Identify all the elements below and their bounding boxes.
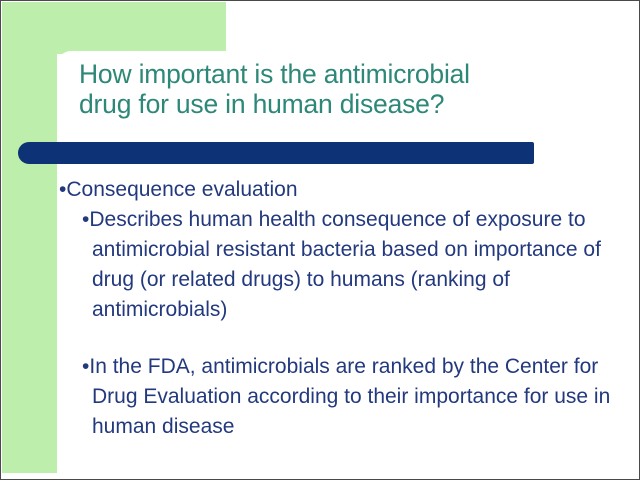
bullet-spacer <box>57 325 637 352</box>
green-left-column <box>2 2 57 473</box>
navy-divider-bar <box>18 142 534 164</box>
presentation-slide: How important is the antimicrobial drug … <box>0 0 640 480</box>
slide-title: How important is the antimicrobial drug … <box>79 59 619 119</box>
bullet-level2-fda-ranking: •In the FDA, antimicrobials are ranked b… <box>57 352 637 442</box>
slide-body: •Consequence evaluation •Describes human… <box>57 177 637 442</box>
green-top-block <box>2 2 226 54</box>
bullet-level2-describes-consequence: •Describes human health consequence of e… <box>57 205 637 325</box>
bullet-text: Consequence evaluation <box>66 178 297 201</box>
bullet-text: In the FDA, antimicrobials are ranked by… <box>89 355 610 438</box>
bullet-text: Describes human health consequence of ex… <box>89 208 601 321</box>
bullet-level1-consequence-evaluation: •Consequence evaluation <box>57 177 637 203</box>
